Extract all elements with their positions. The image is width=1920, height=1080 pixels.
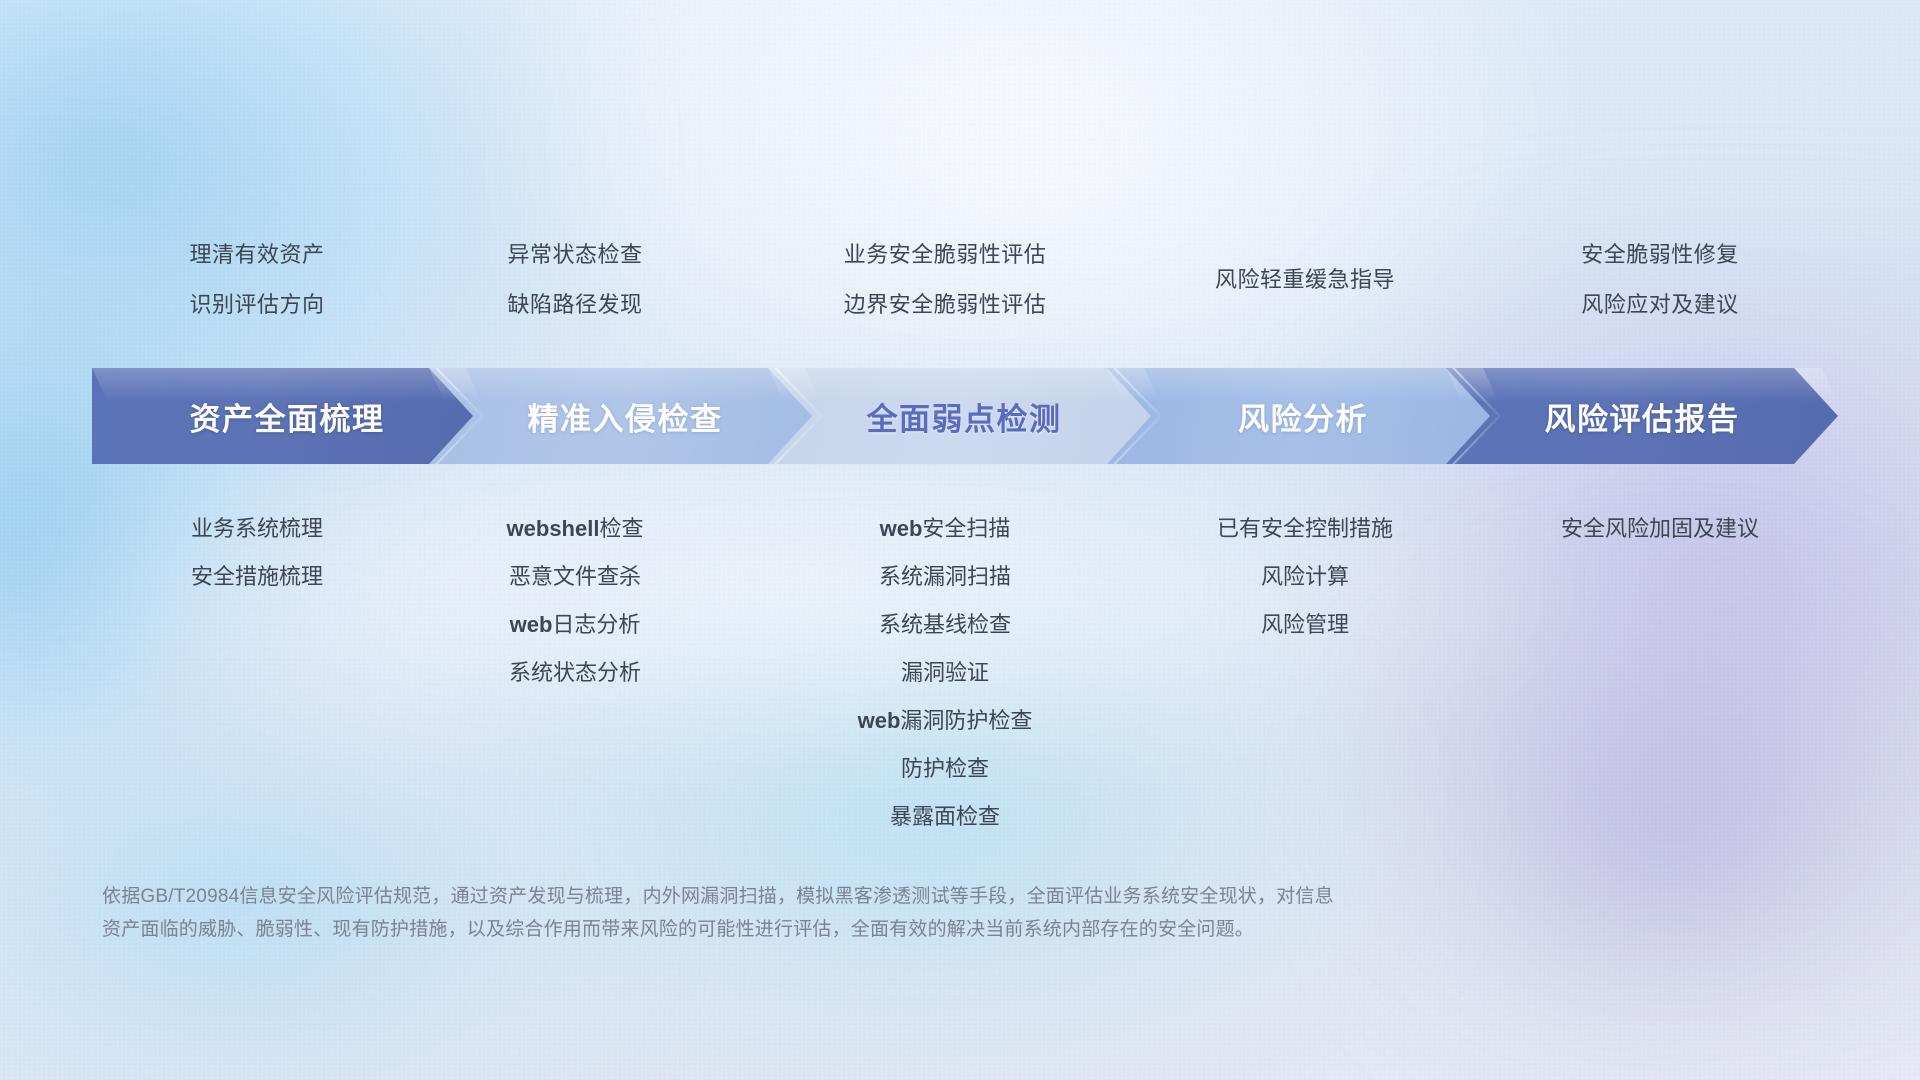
process-diagram: 理清有效资产 识别评估方向 异常状态检查 缺陷路径发现 业务安全脆弱性评估 边界… bbox=[0, 0, 1920, 1080]
stage-chevron-2[interactable]: 精准入侵检查 bbox=[429, 368, 821, 464]
above-labels-stage-1: 理清有效资产 识别评估方向 bbox=[92, 230, 422, 330]
below-items-stage-2: webshell检查 恶意文件查杀 web日志分析 系统状态分析 bbox=[410, 505, 740, 697]
below-item: 系统状态分析 bbox=[410, 649, 740, 697]
stage-chevron-3[interactable]: 全面弱点检测 bbox=[768, 368, 1160, 464]
above-label: 缺陷路径发现 bbox=[410, 280, 740, 330]
stage-chevron-4[interactable]: 风险分析 bbox=[1107, 368, 1499, 464]
below-items-stage-3: web安全扫描 系统漏洞扫描 系统基线检查 漏洞验证 web漏洞防护检查 防护检… bbox=[755, 505, 1135, 841]
above-label: 理清有效资产 bbox=[92, 230, 422, 280]
below-item: 漏洞验证 bbox=[755, 649, 1135, 697]
below-items-stage-5: 安全风险加固及建议 bbox=[1480, 505, 1840, 553]
footer-description: 依据GB/T20984信息安全风险评估规范，通过资产发现与梳理，内外网漏洞扫描，… bbox=[102, 880, 1632, 946]
stage-chevron-1[interactable]: 资产全面梳理 bbox=[92, 368, 482, 464]
below-item: web日志分析 bbox=[410, 601, 740, 649]
below-item: 系统漏洞扫描 bbox=[755, 553, 1135, 601]
stage-label: 全面弱点检测 bbox=[867, 394, 1062, 439]
stage-chevron-5[interactable]: 风险评估报告 bbox=[1446, 368, 1838, 464]
below-item: 系统基线检查 bbox=[755, 601, 1135, 649]
above-label: 安全脆弱性修复 bbox=[1495, 230, 1825, 280]
stage-label: 精准入侵检查 bbox=[528, 394, 723, 439]
below-item: 业务系统梳理 bbox=[92, 505, 422, 553]
below-item: 安全措施梳理 bbox=[92, 553, 422, 601]
above-label: 边界安全脆弱性评估 bbox=[755, 280, 1135, 330]
above-label: 风险轻重缓急指导 bbox=[1125, 255, 1485, 305]
process-stage-band: 资产全面梳理 精准入侵检查 全面弱点检测 风险分析 风险评估报告 bbox=[92, 368, 1828, 464]
below-item: webshell检查 bbox=[410, 505, 740, 553]
above-labels-stage-4: 风险轻重缓急指导 bbox=[1125, 255, 1485, 305]
above-label: 识别评估方向 bbox=[92, 280, 422, 330]
above-labels-stage-5: 安全脆弱性修复 风险应对及建议 bbox=[1495, 230, 1825, 330]
below-item: 防护检查 bbox=[755, 745, 1135, 793]
above-labels-stage-2: 异常状态检查 缺陷路径发现 bbox=[410, 230, 740, 330]
stage-label: 资产全面梳理 bbox=[190, 394, 385, 439]
below-items-stage-4: 已有安全控制措施 风险计算 风险管理 bbox=[1125, 505, 1485, 649]
below-item: 恶意文件查杀 bbox=[410, 553, 740, 601]
below-item: 安全风险加固及建议 bbox=[1480, 505, 1840, 553]
footer-line-1: 依据GB/T20984信息安全风险评估规范，通过资产发现与梳理，内外网漏洞扫描，… bbox=[102, 880, 1632, 913]
below-item: web安全扫描 bbox=[755, 505, 1135, 553]
above-label: 异常状态检查 bbox=[410, 230, 740, 280]
below-item: 风险计算 bbox=[1125, 553, 1485, 601]
below-item: web漏洞防护检查 bbox=[755, 697, 1135, 745]
below-item: 暴露面检查 bbox=[755, 793, 1135, 841]
footer-line-2: 资产面临的威胁、脆弱性、现有防护措施，以及综合作用而带来风险的可能性进行评估，全… bbox=[102, 913, 1632, 946]
above-label: 业务安全脆弱性评估 bbox=[755, 230, 1135, 280]
stage-label: 风险分析 bbox=[1238, 394, 1368, 439]
below-item: 已有安全控制措施 bbox=[1125, 505, 1485, 553]
above-labels-stage-3: 业务安全脆弱性评估 边界安全脆弱性评估 bbox=[755, 230, 1135, 330]
stage-label: 风险评估报告 bbox=[1545, 394, 1740, 439]
below-item: 风险管理 bbox=[1125, 601, 1485, 649]
above-label: 风险应对及建议 bbox=[1495, 280, 1825, 330]
below-items-stage-1: 业务系统梳理 安全措施梳理 bbox=[92, 505, 422, 601]
